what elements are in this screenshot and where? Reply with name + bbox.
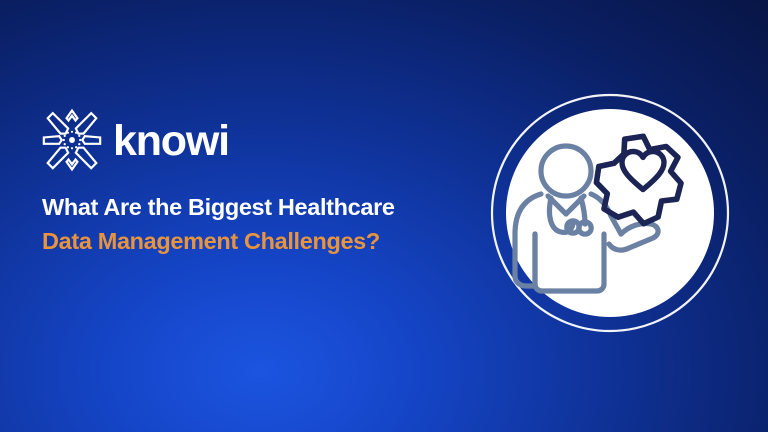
healthcare-data-management-illustration [489, 88, 731, 338]
knowi-star-logo-icon [40, 108, 104, 172]
headline-line-2: Data Management Challenges? [42, 224, 492, 258]
headline-block: What Are the Biggest Healthcare Data Man… [42, 190, 492, 258]
knowi-wordmark: knowi [113, 120, 229, 163]
promo-banner: knowi What Are the Biggest Healthcare Da… [0, 0, 768, 432]
headline-line-1: What Are the Biggest Healthcare [42, 190, 492, 224]
brand-lockup: knowi [40, 108, 229, 172]
